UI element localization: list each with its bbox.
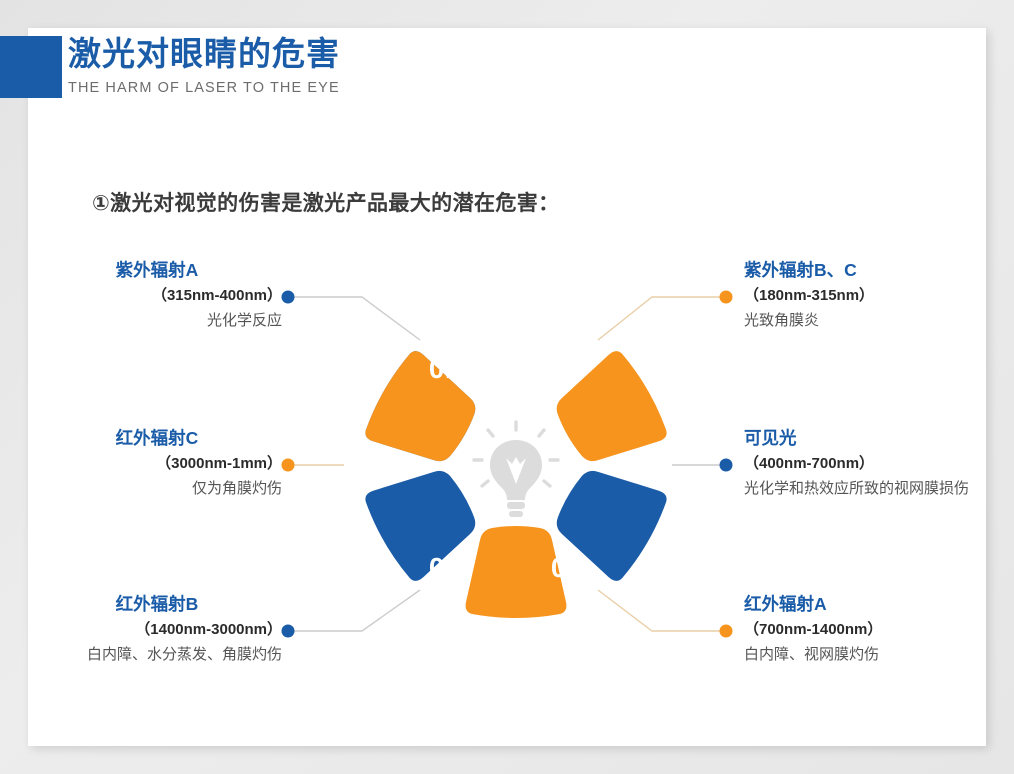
callout-01-desc: 光化学反应 [32, 308, 282, 333]
connector-dot-05[interactable] [282, 625, 295, 638]
callout-02-title: 紫外辐射B、C [744, 258, 994, 283]
callout-06-range: （3000nm-1mm） [32, 451, 282, 476]
callout-01[interactable]: 紫外辐射A （315nm-400nm） 光化学反应 [32, 258, 282, 333]
callout-05-desc: 白内障、水分蒸发、角膜灼伤 [32, 642, 282, 667]
callout-05-title: 红外辐射B [32, 592, 282, 617]
callout-03-range: （400nm-700nm） [744, 451, 994, 476]
connector-dot-06[interactable] [282, 459, 295, 472]
connector-dot-04[interactable] [720, 625, 733, 638]
radial-diagram: 01 02 03 04 05 06 紫外辐射A （315nm-400nm） 光化… [0, 0, 1014, 774]
callout-03[interactable]: 可见光 （400nm-700nm） 光化学和热效应所致的视网膜损伤 [744, 426, 994, 501]
segment-number-02: 02 [532, 353, 602, 385]
callout-04-range: （700nm-1400nm） [744, 617, 994, 642]
callout-02-range: （180nm-315nm） [744, 283, 994, 308]
callout-03-title: 可见光 [744, 426, 994, 451]
segment-number-04: 04 [532, 552, 602, 584]
callout-06[interactable]: 红外辐射C （3000nm-1mm） 仅为角膜灼伤 [32, 426, 282, 501]
callout-05-range: （1400nm-3000nm） [32, 617, 282, 642]
callout-01-title: 紫外辐射A [32, 258, 282, 283]
segment-number-05: 05 [410, 552, 480, 584]
callout-04-title: 红外辐射A [744, 592, 994, 617]
connector-dot-03[interactable] [720, 459, 733, 472]
callout-05[interactable]: 红外辐射B （1400nm-3000nm） 白内障、水分蒸发、角膜灼伤 [32, 592, 282, 667]
callout-04[interactable]: 红外辐射A （700nm-1400nm） 白内障、视网膜灼伤 [744, 592, 994, 667]
callout-03-desc: 光化学和热效应所致的视网膜损伤 [744, 476, 994, 501]
connector-dot-01[interactable] [282, 291, 295, 304]
callout-02-desc: 光致角膜炎 [744, 308, 994, 333]
lightbulb-icon [474, 422, 558, 517]
callout-06-title: 红外辐射C [32, 426, 282, 451]
segment-number-06: 06 [355, 450, 425, 482]
segment-number-03: 03 [590, 450, 660, 482]
callout-02[interactable]: 紫外辐射B、C （180nm-315nm） 光致角膜炎 [744, 258, 994, 333]
segment-number-01: 01 [410, 353, 480, 385]
connector-dot-02[interactable] [720, 291, 733, 304]
callout-06-desc: 仅为角膜灼伤 [32, 476, 282, 501]
slide-root: 激光对眼睛的危害 THE HARM OF LASER TO THE EYE ①激… [0, 0, 1014, 774]
callout-01-range: （315nm-400nm） [32, 283, 282, 308]
callout-04-desc: 白内障、视网膜灼伤 [744, 642, 994, 667]
